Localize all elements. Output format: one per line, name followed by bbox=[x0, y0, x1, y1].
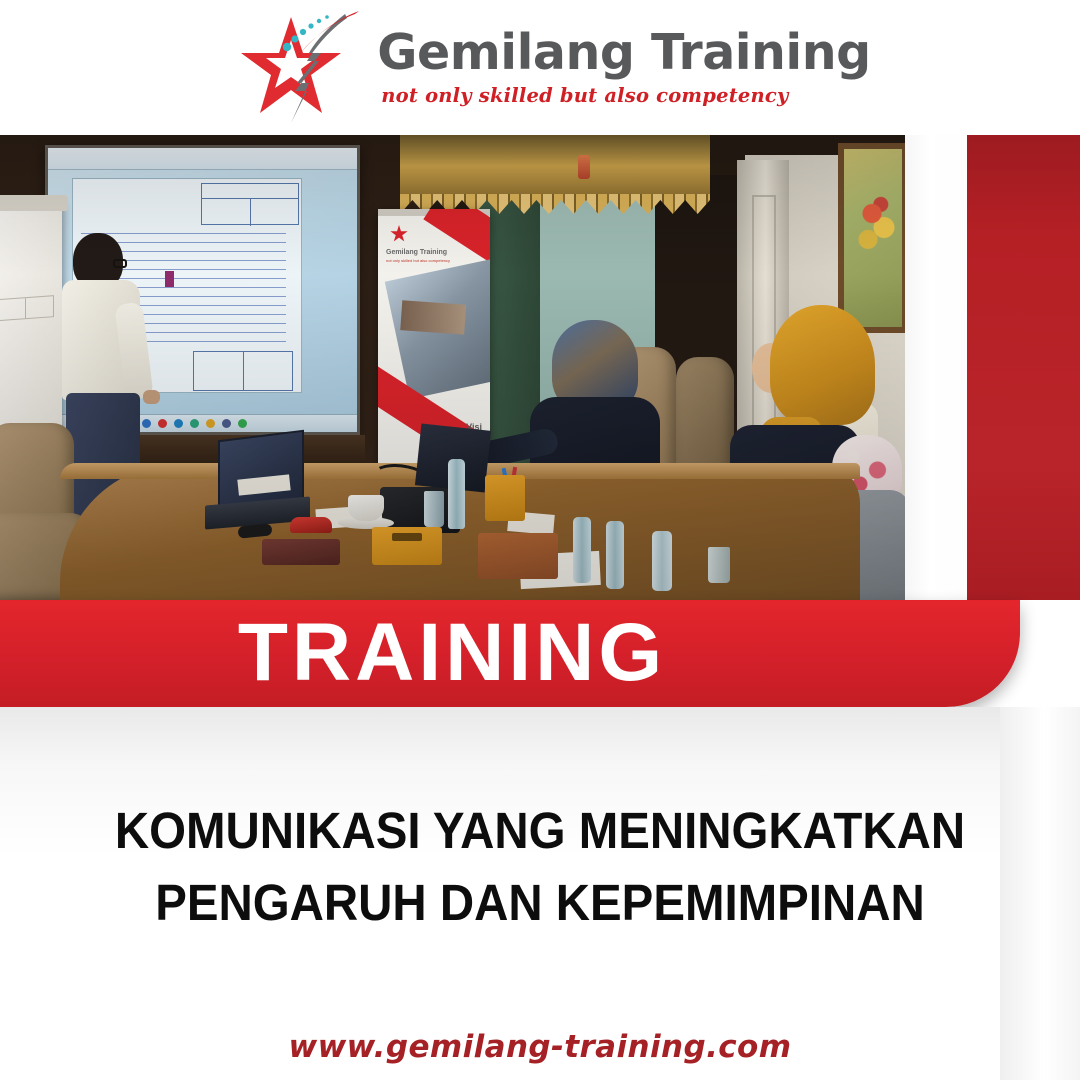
logo-mark bbox=[233, 9, 373, 127]
brand-name: Gemilang Training bbox=[377, 28, 870, 77]
screen-app-toolbar bbox=[48, 148, 357, 170]
header-logo-bar: Gemilang Training not only skilled but a… bbox=[0, 0, 1080, 135]
rollup-star-icon bbox=[390, 225, 408, 243]
coffee-cup bbox=[348, 495, 384, 521]
brand-logo-lockup[interactable]: Gemilang Training not only skilled but a… bbox=[233, 9, 870, 127]
leather-folder bbox=[262, 539, 340, 565]
training-banner: TRAINING bbox=[0, 600, 1020, 707]
course-title-line-1: KOMUNIKASI YANG MENINGKATKAN bbox=[115, 802, 965, 859]
rollup-brand-name: Gemilang Training bbox=[386, 249, 447, 256]
tissue-box-2 bbox=[485, 475, 525, 521]
presenter-glasses bbox=[113, 259, 127, 268]
training-room-photo: Gemilang Training not only skilled but a… bbox=[0, 135, 905, 600]
drinking-glass-1 bbox=[424, 491, 444, 527]
water-bottle-4 bbox=[652, 531, 672, 591]
photo-canvas: Gemilang Training not only skilled but a… bbox=[0, 135, 905, 600]
logo-wordmark: Gemilang Training not only skilled but a… bbox=[377, 28, 870, 107]
stapler bbox=[290, 517, 332, 533]
flipchart-clamp bbox=[0, 195, 68, 211]
pendant-ornament bbox=[578, 155, 590, 179]
wall-painting bbox=[838, 143, 905, 333]
tissue-box-3 bbox=[478, 533, 558, 579]
rollup-photo bbox=[385, 259, 490, 399]
screen-table-top bbox=[201, 183, 299, 225]
water-bottle-1 bbox=[448, 459, 465, 529]
window-valance bbox=[400, 135, 710, 197]
flipchart-grid bbox=[0, 295, 54, 321]
right-red-panel bbox=[967, 135, 1080, 600]
presenter-hand bbox=[143, 390, 160, 404]
water-bottle-2 bbox=[573, 517, 591, 583]
drinking-glass-2 bbox=[708, 547, 730, 583]
brand-tagline: not only skilled but also competency bbox=[381, 84, 788, 107]
screen-cursor bbox=[165, 271, 174, 287]
course-title-line-2: PENGARUH DAN KEPEMIMPINAN bbox=[38, 867, 1042, 939]
lightning-bolt-icon bbox=[233, 9, 373, 127]
water-bottle-3 bbox=[606, 521, 624, 589]
banner-label: TRAINING bbox=[0, 599, 962, 706]
photo-right-gap bbox=[905, 135, 967, 600]
course-title: KOMUNIKASI YANG MENINGKATKAN PENGARUH DA… bbox=[38, 795, 1042, 940]
website-url[interactable]: www.gemilang-training.com bbox=[0, 1029, 1080, 1065]
rollup-brand-tagline: not only skilled but also competency bbox=[386, 258, 450, 263]
tissue-box-1 bbox=[372, 527, 442, 565]
participant-mustard-scarf bbox=[770, 305, 875, 425]
screen-table-bottom bbox=[193, 351, 293, 391]
